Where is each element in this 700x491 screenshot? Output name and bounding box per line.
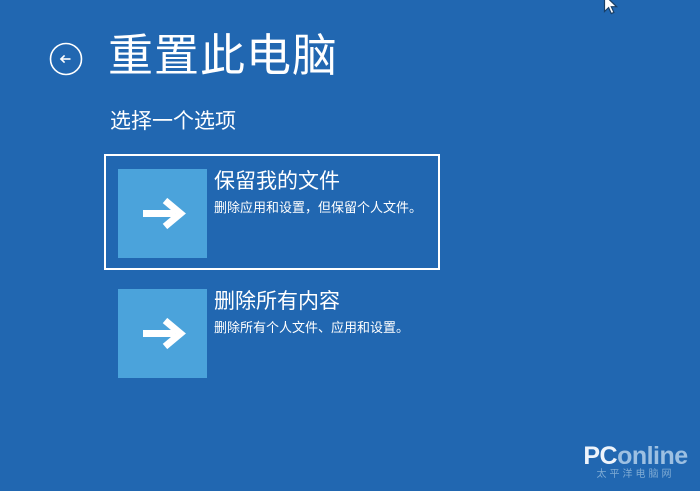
right-arrow-icon (118, 169, 207, 258)
option-keep-my-files[interactable]: 保留我的文件 删除应用和设置，但保留个人文件。 (104, 154, 440, 270)
option-description: 删除应用和设置，但保留个人文件。 (214, 198, 432, 217)
option-title: 删除所有内容 (214, 287, 432, 316)
option-remove-everything[interactable]: 删除所有内容 删除所有个人文件、应用和设置。 (104, 274, 440, 390)
watermark-brand-strong: PC (583, 442, 617, 470)
option-text-block: 保留我的文件 删除应用和设置，但保留个人文件。 (214, 167, 432, 217)
watermark-brand: PConline (583, 443, 688, 469)
option-description: 删除所有个人文件、应用和设置。 (214, 318, 432, 337)
option-list: 保留我的文件 删除应用和设置，但保留个人文件。 删除所有内容 删除所有个人文件、… (0, 0, 700, 491)
watermark-subtext: 太平洋电脑网 (583, 469, 688, 481)
option-title: 保留我的文件 (214, 167, 432, 196)
option-text-block: 删除所有内容 删除所有个人文件、应用和设置。 (214, 287, 432, 337)
watermark-brand-rest: online (617, 442, 688, 470)
option-icon-tile (118, 169, 207, 258)
right-arrow-icon (118, 289, 207, 378)
reset-this-pc-screen: 重置此电脑 选择一个选项 保留我的文件 删除应用和设置，但保留个人文件。 (0, 0, 700, 491)
option-icon-tile (118, 289, 207, 378)
watermark: PConline 太平洋电脑网 (583, 443, 688, 483)
